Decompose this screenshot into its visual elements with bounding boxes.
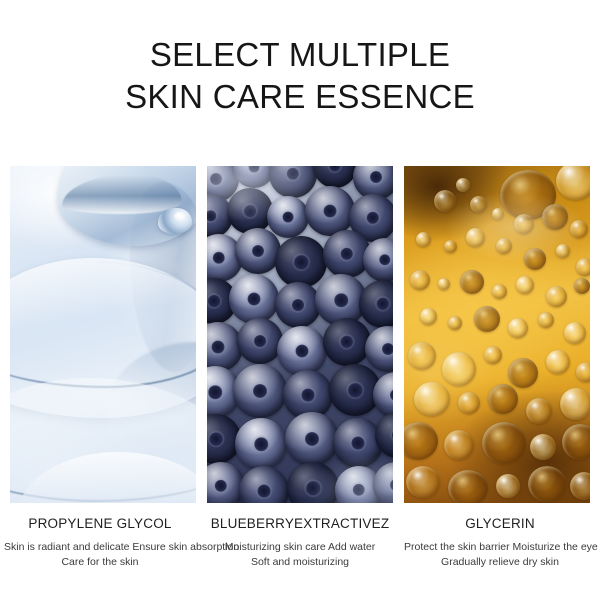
oil-bubble	[410, 270, 430, 290]
blueberry	[227, 188, 273, 234]
oil-bubble	[492, 284, 507, 299]
oil-bubble	[546, 286, 567, 307]
blueberry	[363, 238, 393, 282]
gel-wave-middle-edge	[10, 262, 196, 388]
caption-description: Moisturizing skin care Add water Soft an…	[204, 540, 396, 570]
oil-bubble	[466, 228, 485, 247]
blueberry	[323, 318, 371, 366]
ingredient-image-blueberry-extract	[207, 166, 393, 503]
page-title: SELECT MULTIPLE SKIN CARE ESSENCE	[0, 34, 600, 118]
blueberry	[373, 462, 393, 503]
oil-bubble	[538, 312, 554, 328]
oil-bubble	[414, 382, 450, 416]
oil-bubble	[444, 430, 474, 460]
blueberry	[267, 196, 309, 238]
caption-description-line-1: Protect the skin barrier Moisturize the …	[404, 540, 596, 555]
oil-bubble	[458, 392, 480, 414]
caption-description-line-1: Skin is radiant and delicate Ensure skin…	[4, 540, 196, 555]
blueberry	[235, 418, 287, 470]
oil-bubble	[408, 342, 436, 370]
oil-bubble	[556, 166, 590, 200]
oil-bubble	[526, 398, 552, 424]
blueberry	[269, 166, 317, 198]
oil-bubble	[562, 424, 590, 460]
oil-bubble	[442, 352, 476, 386]
caption-propylene-glycol: PROPYLENE GLYCOL Skin is radiant and del…	[0, 514, 200, 570]
caption-title: BLUEBERRYEXTRACTIVEZ	[204, 514, 396, 534]
gel-shadow-middle	[106, 342, 196, 472]
oil-bubble	[488, 384, 518, 414]
caption-description-line-1: Moisturizing skin care Add water	[204, 540, 396, 555]
page-title-line-1: SELECT MULTIPLE	[0, 34, 600, 76]
oil-bubble	[404, 422, 438, 460]
caption-description-line-2: Soft and moisturizing	[204, 555, 396, 570]
caption-description-line-2: Gradually relieve dry skin	[404, 555, 596, 570]
gel-wave-middle	[10, 258, 196, 418]
oil-bubble	[434, 190, 456, 212]
gel-wave-lower-edge	[10, 382, 196, 502]
caption-title: PROPYLENE GLYCOL	[4, 514, 196, 534]
page-title-line-2: SKIN CARE ESSENCE	[0, 76, 600, 118]
oil-bubble	[516, 276, 534, 294]
oil-bubble	[474, 306, 500, 332]
oil-bubble	[492, 208, 504, 220]
ingredient-image-glycerin	[404, 166, 590, 503]
gel-blob-top-edge	[62, 174, 182, 214]
oil-bubble	[484, 346, 502, 364]
ingredient-image-row	[10, 166, 590, 503]
oil-bubble	[514, 214, 534, 234]
gel-droplet	[158, 208, 192, 234]
caption-description-line-2: Care for the skin	[4, 555, 196, 570]
oil-bubble	[456, 178, 470, 192]
oil-bubble	[496, 238, 512, 254]
oil-bubble	[556, 244, 570, 258]
oil-bubble	[570, 220, 588, 238]
blueberry	[305, 186, 355, 236]
oil-bubble	[448, 316, 462, 330]
gel-blob-top	[58, 166, 196, 246]
oil-bubble	[560, 388, 590, 420]
oil-bubble	[546, 350, 570, 374]
caption-description: Protect the skin barrier Moisturize the …	[404, 540, 596, 570]
oil-bubble	[406, 466, 440, 498]
oil-bubble	[444, 240, 457, 253]
blueberry	[275, 282, 321, 328]
gel-highlight-vertical	[130, 182, 196, 372]
caption-glycerin: GLYCERIN Protect the skin barrier Moistu…	[400, 514, 600, 570]
blueberry	[235, 228, 281, 274]
gel-wave-bottom	[18, 452, 196, 503]
blueberry	[285, 412, 339, 466]
oil-bubble	[570, 472, 590, 500]
oil-bubble	[528, 466, 566, 502]
oil-bubble	[576, 362, 590, 382]
product-ingredients-infographic: SELECT MULTIPLE SKIN CARE ESSENCE	[0, 0, 600, 600]
blueberry	[313, 166, 357, 188]
oil-bubble	[524, 248, 546, 270]
blueberry	[359, 280, 393, 328]
gel-droplet-highlight	[174, 212, 185, 221]
blueberry	[277, 326, 327, 376]
oil-bubble	[438, 278, 450, 290]
oil-bubble	[508, 358, 538, 388]
oil-bubble	[542, 204, 568, 230]
blueberry	[237, 318, 283, 364]
blueberry	[287, 462, 339, 503]
oil-bubble	[574, 278, 590, 294]
gel-wave-lower	[10, 378, 196, 503]
oil-bubble	[448, 470, 488, 503]
blueberry	[229, 274, 279, 324]
oil-bubble	[530, 434, 556, 460]
ingredient-caption-row: PROPYLENE GLYCOL Skin is radiant and del…	[0, 514, 600, 570]
blueberry	[239, 466, 289, 503]
caption-title: GLYCERIN	[404, 514, 596, 534]
blueberry	[233, 364, 287, 418]
oil-bubble	[508, 318, 528, 338]
caption-description: Skin is radiant and delicate Ensure skin…	[4, 540, 196, 570]
oil-bubble	[416, 232, 431, 247]
oil-bubble	[564, 322, 586, 344]
oil-bubble	[460, 270, 484, 294]
ingredient-image-propylene-glycol	[10, 166, 196, 503]
caption-blueberry-extract: BLUEBERRYEXTRACTIVEZ Moisturizing skin c…	[200, 514, 400, 570]
blueberry	[275, 236, 327, 288]
oil-bubble	[470, 196, 487, 213]
oil-bubble	[576, 258, 590, 276]
oil-bubble	[420, 308, 437, 325]
oil-bubble	[496, 474, 520, 498]
oil-bubble	[482, 422, 526, 464]
